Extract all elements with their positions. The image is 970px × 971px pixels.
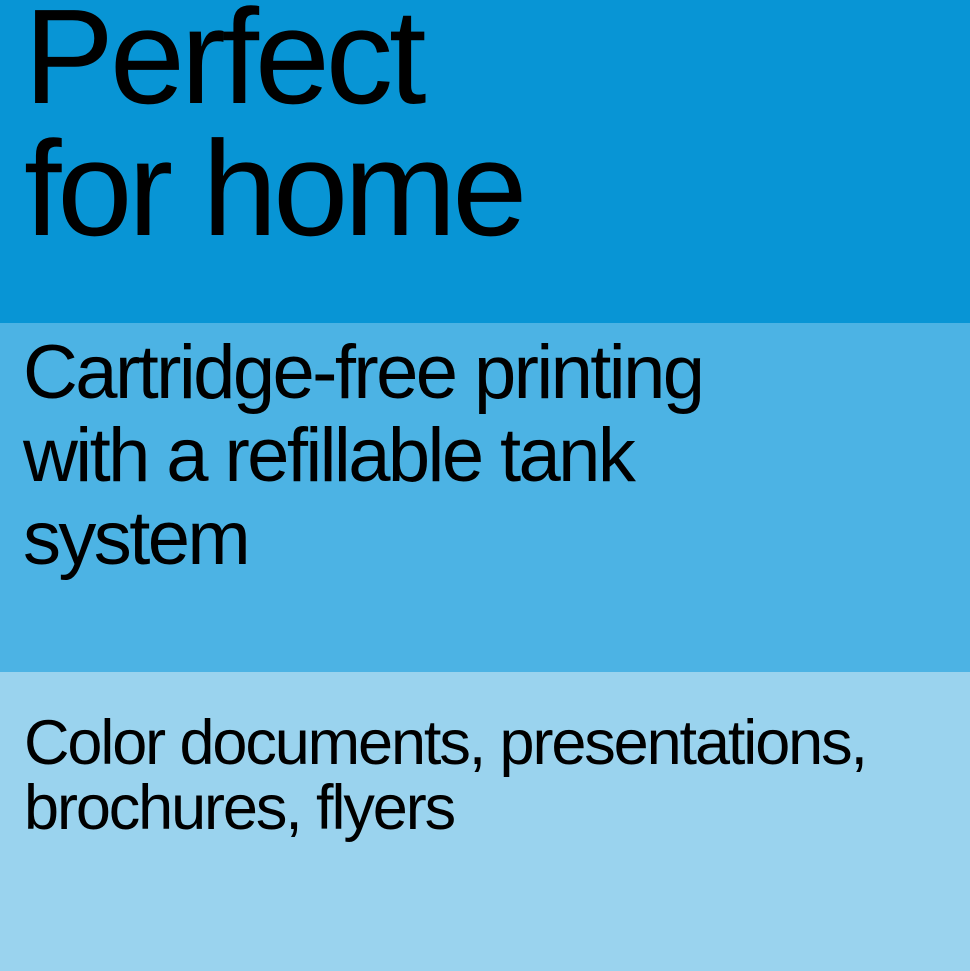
- detail-text: Color documents, presentations, brochure…: [24, 711, 866, 841]
- subhead-text: Cartridge-free printing with a refillabl…: [23, 331, 702, 580]
- headline-band: Perfect for home: [0, 0, 970, 323]
- product-feature-banner: Perfect for home Cartridge-free printing…: [0, 0, 970, 971]
- detail-band: Color documents, presentations, brochure…: [0, 672, 970, 971]
- headline-text: Perfect for home: [24, 0, 523, 255]
- subhead-band: Cartridge-free printing with a refillabl…: [0, 323, 970, 672]
